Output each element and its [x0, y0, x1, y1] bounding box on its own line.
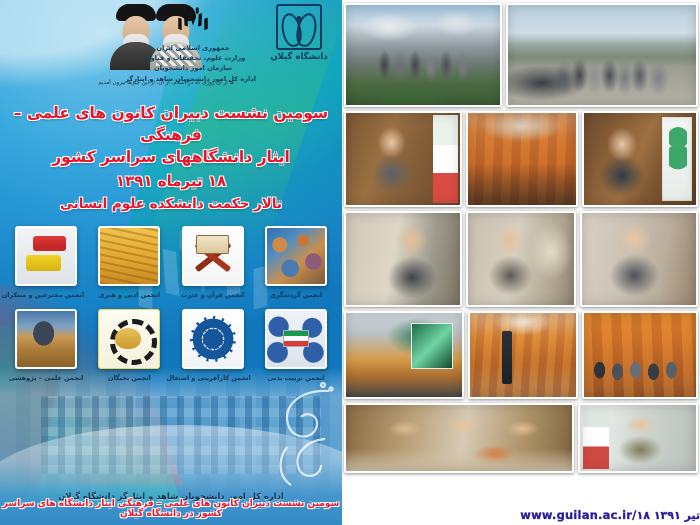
- ministry-block: جمهوری اسلامی ایران وزارت علوم، تحقیقات …: [130, 6, 256, 84]
- photo-podium-green: [578, 403, 698, 473]
- association-label: انجمن نخبگان: [91, 374, 167, 382]
- gear-industry-icon: [182, 309, 244, 369]
- photo-row: [344, 111, 698, 207]
- university-of-guilan-logo: دانشگاه گیلان: [262, 4, 336, 78]
- photo-outdoor-walk-1: [506, 3, 698, 107]
- sports-pictograms-icon: [265, 309, 327, 369]
- photo-audience-seated: [582, 311, 698, 399]
- association-tile-research[interactable]: انجمن علمی – پژوهشی: [8, 309, 84, 382]
- calligraphy-poster-icon: [98, 226, 160, 286]
- association-tile-tourism[interactable]: انجمن گردشگری: [258, 226, 334, 299]
- photo-hall-wide: [468, 311, 578, 399]
- event-poster: www.guilan.ac.ir/۱۸ تیر ۱۳۹۱: [0, 0, 700, 525]
- association-row-1: انجمن گردشگری انجمن قرآن و عترت انجمن اد…: [8, 226, 334, 299]
- association-label: انجمن ادبی و هنری: [91, 291, 167, 299]
- photo-speaker-mic: [580, 211, 698, 307]
- association-tiles: انجمن گردشگری انجمن قرآن و عترت انجمن اد…: [0, 226, 342, 382]
- banner-header: دانشگاه گیلان ما از آن روزی که در اسلام،…: [0, 0, 342, 100]
- event-banner: دانشگاه گیلان ما از آن روزی که در اسلام،…: [0, 0, 342, 525]
- association-tile-quran[interactable]: انجمن قرآن و عترت: [175, 226, 251, 299]
- url-bar: www.guilan.ac.ir/۱۸ تیر ۱۳۹۱: [342, 505, 700, 525]
- photo-speaker-podium: [582, 111, 698, 207]
- association-tile-literary[interactable]: انجمن ادبی و هنری: [91, 226, 167, 299]
- association-tile-elites[interactable]: انجمن نخبگان: [91, 309, 167, 382]
- building-blocks-icon: [15, 226, 77, 286]
- brain-gear-icon: [98, 309, 160, 369]
- event-venue-line: تالار حکمت دانشکده علوم انسانی: [8, 195, 334, 214]
- association-tile-sports[interactable]: انجمن تربیت بدنی: [258, 309, 334, 382]
- tourism-collage-icon: [265, 226, 327, 286]
- guilan-emblem-icon: [276, 4, 322, 50]
- event-date-text: ۱۸ تیر ۱۳۹۱: [637, 509, 700, 522]
- ministry-line-1: جمهوری اسلامی ایران: [130, 43, 256, 53]
- photo-panel-three: [344, 403, 574, 473]
- association-label: انجمن گردشگری: [258, 291, 334, 299]
- event-title-line-2: ایثار دانشگاههای سراسر کشور: [8, 146, 334, 168]
- association-row-2: انجمن تربیت بدنی انجمن کارآفرینی و اشتغا…: [8, 309, 334, 382]
- event-title-line-1: سومین نشست دبیران کانون های علمی – فرهنگ…: [8, 102, 334, 146]
- association-label: انجمن کارآفرینی و اشتغال: [175, 374, 251, 382]
- ministry-line-3: سازمان امور دانشجویان: [130, 63, 256, 73]
- hiker-desert-icon: [15, 309, 77, 369]
- decorative-swirl-icon: [246, 381, 338, 491]
- photo-speaker-projector: [466, 211, 576, 307]
- iran-national-emblem-icon: [176, 6, 210, 36]
- banner-titles: سومین نشست دبیران کانون های علمی – فرهنگ…: [0, 102, 342, 214]
- photo-outdoor-walk-2: [344, 3, 502, 107]
- association-label: انجمن علمی – پژوهشی: [8, 374, 84, 382]
- association-label: انجمن قرآن و عترت: [175, 291, 251, 299]
- event-date-line: ۱۸ تیرماه ۱۳۹۱: [8, 171, 334, 192]
- photo-audience-hall: [466, 111, 578, 207]
- photo-row: [344, 3, 698, 107]
- site-url-text[interactable]: www.guilan.ac.ir/۱۸ تیر ۱۳۹۱: [516, 508, 700, 522]
- university-name-label: دانشگاه گیلان: [270, 52, 327, 62]
- quran-stand-icon: [182, 226, 244, 286]
- ministry-line-4: اداره کل امور دانشجویان شاهد و ایثارگر: [130, 74, 256, 84]
- photo-collage: www.guilan.ac.ir/۱۸ تیر ۱۳۹۱: [342, 0, 700, 525]
- photo-row: [344, 211, 698, 307]
- association-tile-inventors[interactable]: انجمن مخترعین و مبتکران: [8, 226, 84, 299]
- ministry-line-2: وزارت علوم، تحقیقات و فناوری: [130, 53, 256, 63]
- association-label: انجمن مخترعین و مبتکران: [8, 291, 84, 299]
- association-label: انجمن تربیت بدنی: [258, 374, 334, 382]
- red-footer-banner: سومین نشست دبیران کانون های علمی – فرهنگ…: [0, 499, 342, 519]
- photo-speaker-table: [344, 211, 462, 307]
- photo-row: [344, 311, 698, 399]
- photo-row: [344, 403, 698, 473]
- association-tile-entrepreneurship[interactable]: انجمن کارآفرینی و اشتغال: [175, 309, 251, 382]
- photo-speaker-flag: [344, 111, 462, 207]
- photo-stage-panel: [344, 311, 464, 399]
